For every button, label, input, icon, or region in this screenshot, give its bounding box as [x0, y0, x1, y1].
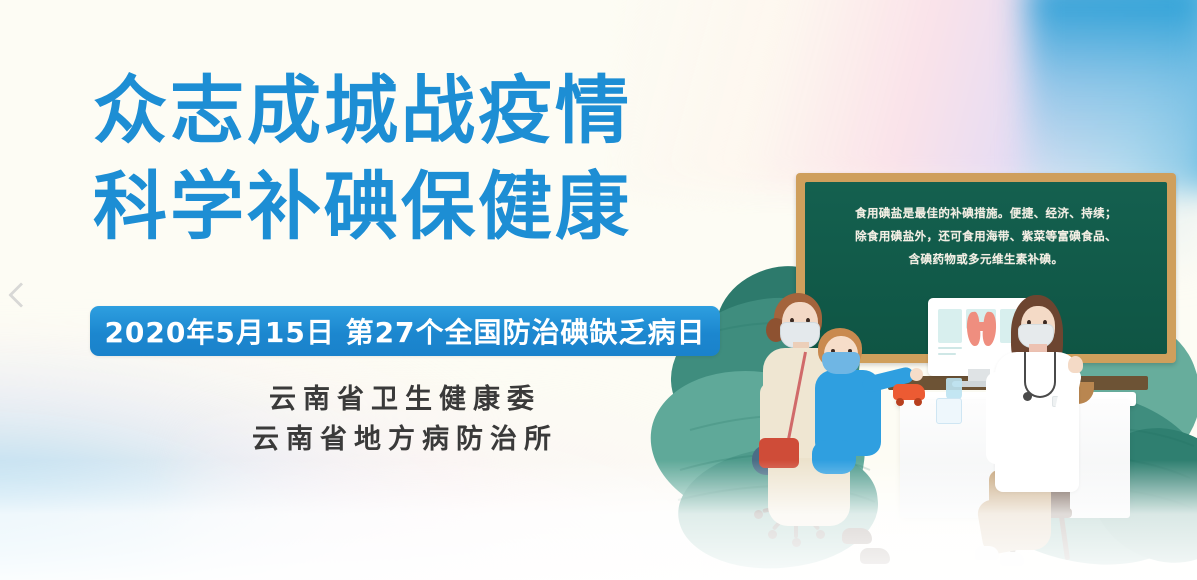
page-title: 众志成城战疫情 科学补碘保健康	[93, 63, 753, 255]
doctor-hand	[1068, 356, 1083, 373]
date-banner-text: 2020年5月15日 第27个全国防治碘缺乏病日	[104, 311, 705, 351]
screen-text-line	[938, 353, 956, 355]
organization-line-1: 云南省卫生健康委	[90, 380, 720, 420]
toy-car-wheel	[896, 398, 904, 406]
toy-car-wheel	[914, 398, 922, 406]
stethoscope-bell-icon	[1023, 392, 1032, 401]
organization-line-2: 云南省地方病防治所	[90, 420, 720, 460]
poster-slide: 食用碘盐是最佳的补碘措施。便捷、经济、持续； 除食用碘盐外，还可食用海带、紫菜等…	[0, 0, 1197, 580]
stethoscope-icon	[1024, 352, 1056, 398]
date-banner: 2020年5月15日 第27个全国防治碘缺乏病日	[90, 306, 720, 356]
floor-overlay	[0, 460, 1197, 580]
desk-cup	[946, 378, 962, 400]
desk-label-card	[936, 398, 962, 424]
thyroid-gland-icon	[975, 322, 989, 331]
carousel-prev-button[interactable]	[6, 274, 36, 316]
chevron-left-icon	[8, 282, 33, 307]
headline-line-1: 众志成城战疫情	[93, 63, 753, 159]
blackboard-line: 含碘药物或多元维生素补碘。	[815, 248, 1157, 271]
blackboard-line: 除食用碘盐外，还可食用海带、紫菜等富碘食品、	[815, 225, 1157, 248]
organization-block: 云南省卫生健康委 云南省地方病防治所	[90, 380, 720, 460]
headline-line-2: 科学补碘保健康	[93, 159, 753, 255]
blackboard-line: 食用碘盐是最佳的补碘措施。便捷、经济、持续；	[815, 202, 1157, 225]
doctor-arm	[986, 372, 1006, 464]
child-hand	[910, 368, 923, 381]
face-mask-icon	[822, 352, 860, 374]
screen-text-line	[938, 347, 962, 349]
blackboard-text: 食用碘盐是最佳的补碘措施。便捷、经济、持续； 除食用碘盐外，还可食用海带、紫菜等…	[815, 202, 1157, 271]
screen-panel	[938, 309, 962, 343]
